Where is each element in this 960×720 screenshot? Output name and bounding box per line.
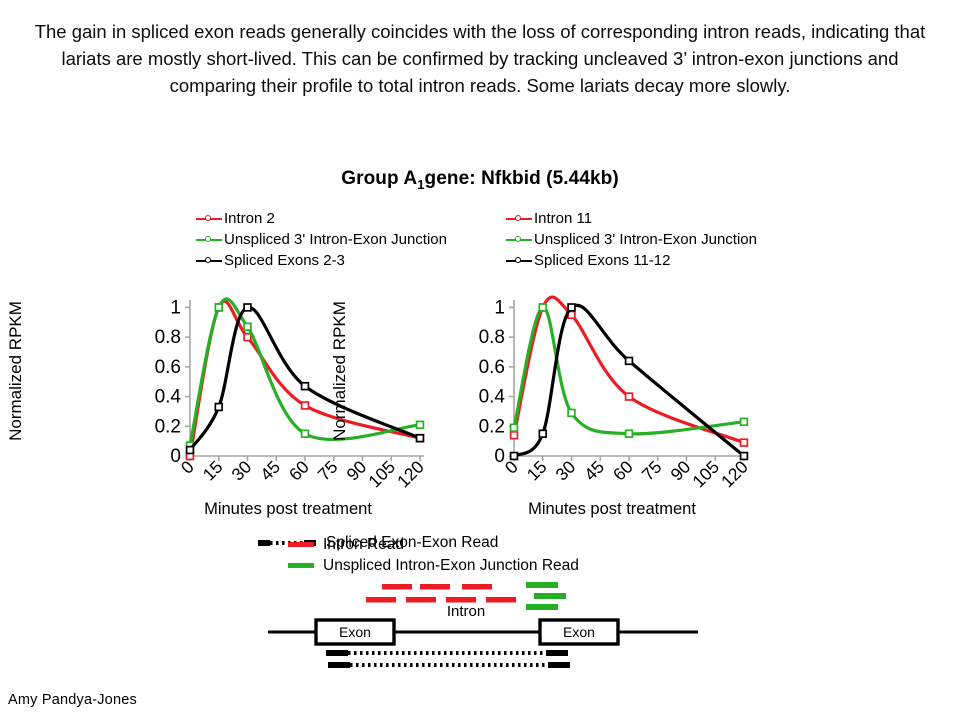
- legend-label: Intron 2: [223, 208, 275, 229]
- read-type-legend: Intron Read Unspliced Intron-Exon Juncti…: [288, 534, 579, 576]
- x-axis-label: Minutes post treatment: [482, 500, 742, 519]
- junction-read-swatch-icon: [288, 563, 314, 568]
- svg-text:120: 120: [393, 457, 428, 492]
- svg-text:Exon: Exon: [339, 624, 371, 640]
- gene-structure-diagram: Intron Read Unspliced Intron-Exon Juncti…: [258, 534, 708, 684]
- svg-text:0.6: 0.6: [155, 357, 181, 378]
- svg-text:60: 60: [609, 456, 637, 484]
- read-legend-label: Intron Read: [323, 534, 404, 555]
- svg-text:60: 60: [285, 456, 313, 484]
- legend-marker-icon: [196, 234, 222, 246]
- svg-text:1: 1: [494, 297, 505, 318]
- legend-label: Spliced Exons 2-3: [223, 250, 345, 271]
- svg-text:45: 45: [256, 457, 284, 485]
- svg-text:0.8: 0.8: [155, 327, 181, 348]
- chart-legend-left: Intron 2 Unspliced 3' Intron-Exon Juncti…: [196, 208, 447, 271]
- page-title-prefix: Group A: [341, 168, 417, 189]
- chart-legend-right: Intron 11 Unspliced 3' Intron-Exon Junct…: [506, 208, 757, 271]
- svg-text:15: 15: [199, 457, 227, 485]
- svg-text:105: 105: [364, 457, 399, 492]
- svg-text:0.4: 0.4: [479, 387, 506, 408]
- legend-item-junction: Unspliced 3' Intron-Exon Junction: [196, 229, 447, 250]
- svg-text:1: 1: [170, 297, 181, 318]
- legend-item-spliced: Spliced Exons 2-3: [196, 250, 447, 271]
- legend-label: Unspliced 3' Intron-Exon Junction: [223, 229, 447, 250]
- svg-text:0.2: 0.2: [479, 416, 505, 437]
- legend-marker-icon: [196, 255, 222, 267]
- gene-model-svg: Exon Exon Intron: [258, 578, 708, 688]
- svg-text:15: 15: [523, 457, 551, 485]
- legend-label: Intron 11: [533, 208, 592, 229]
- svg-text:0.8: 0.8: [479, 327, 505, 348]
- svg-text:45: 45: [580, 457, 608, 485]
- svg-text:75: 75: [638, 457, 666, 485]
- chart-right: Normalized RPKM 00.20.40.60.810153045607…: [452, 288, 752, 528]
- page-title-subscript: 1: [417, 177, 424, 192]
- legend-item-spliced: Spliced Exons 11-12: [506, 250, 757, 271]
- svg-text:120: 120: [717, 457, 752, 492]
- svg-text:0.6: 0.6: [479, 357, 505, 378]
- chart-right-svg: 00.20.40.60.810153045607590105120: [452, 288, 752, 498]
- legend-item-intron-2: Intron 2: [196, 208, 447, 229]
- legend-marker-icon: [506, 213, 532, 225]
- svg-text:30: 30: [551, 456, 579, 484]
- svg-text:Exon: Exon: [563, 624, 595, 640]
- author-credit: Amy Pandya-Jones: [8, 692, 137, 708]
- legend-item-junction: Unspliced 3' Intron-Exon Junction: [506, 229, 757, 250]
- svg-text:30: 30: [227, 456, 255, 484]
- svg-text:0.2: 0.2: [155, 416, 181, 437]
- y-axis-label: Normalized RPKM: [330, 296, 350, 446]
- intron-read-swatch-icon: [288, 542, 314, 547]
- svg-text:0.4: 0.4: [155, 387, 182, 408]
- read-legend-label: Unspliced Intron-Exon Junction Read: [323, 555, 579, 576]
- legend-label: Unspliced 3' Intron-Exon Junction: [533, 229, 757, 250]
- legend-label: Spliced Exons 11-12: [533, 250, 670, 271]
- svg-text:105: 105: [688, 457, 723, 492]
- svg-text:Intron: Intron: [447, 603, 485, 620]
- svg-text:75: 75: [314, 457, 342, 485]
- read-legend-item-intron: Intron Read: [288, 534, 579, 555]
- legend-marker-icon: [196, 213, 222, 225]
- chart-left: Normalized RPKM 00.20.40.60.810153045607…: [128, 288, 428, 528]
- page-title: Group A1gene: Nfkbid (5.44kb): [0, 168, 960, 192]
- legend-item-intron-11: Intron 11: [506, 208, 757, 229]
- y-axis-label: Normalized RPKM: [6, 296, 26, 446]
- read-legend-item-junction: Unspliced Intron-Exon Junction Read: [288, 555, 579, 576]
- chart-left-svg: 00.20.40.60.810153045607590105120: [128, 288, 428, 498]
- legend-marker-icon: [506, 234, 532, 246]
- x-axis-label: Minutes post treatment: [158, 500, 418, 519]
- page-title-suffix: gene: Nfkbid (5.44kb): [425, 168, 619, 189]
- slide-body-text: The gain in spliced exon reads generally…: [20, 18, 940, 99]
- legend-marker-icon: [506, 255, 532, 267]
